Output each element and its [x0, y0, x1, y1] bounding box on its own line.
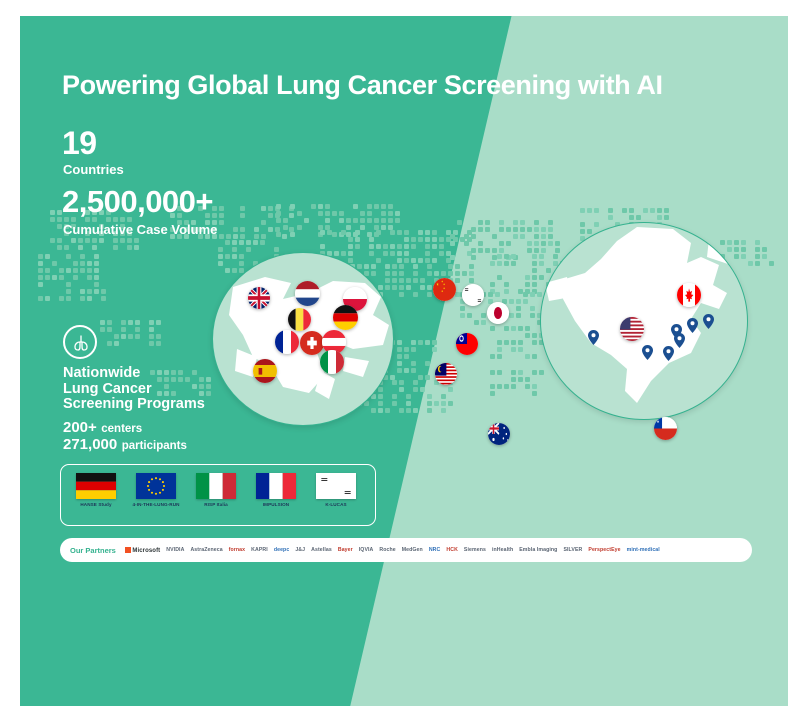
map-flag-it: [320, 350, 344, 374]
partner-logo-iqvia: IQVIA: [359, 547, 374, 553]
program-name: K-LUCAS: [309, 502, 363, 507]
flag-icon-kr: [316, 473, 356, 499]
map-flag-cl: [654, 417, 677, 440]
partner-logo-fornax: fornax: [229, 547, 245, 553]
nationwide-line-3: Screening Programs: [63, 397, 205, 413]
partners-bar: Our Partners MicrosoftNVIDIAAstraZenecaf…: [60, 538, 752, 562]
participants-stat: 271,000 participants: [63, 437, 187, 454]
map-flag-tw: [456, 333, 478, 355]
map-pin-site-4: [703, 314, 714, 329]
cumulative-cases-label: Cumulative Case Volume: [63, 222, 217, 237]
map-pin-site-1: [588, 330, 599, 345]
partner-logo-nrc: NRC: [429, 547, 441, 553]
program-item-it: RISP Italia: [189, 473, 243, 507]
program-item-fr: IMPULSION: [249, 473, 303, 507]
partner-logo-siemens: Siemens: [464, 547, 486, 553]
partner-logo-nvidia: NVIDIA: [166, 547, 184, 553]
participants-label: participants: [122, 440, 187, 452]
program-item-kr: K-LUCAS: [309, 473, 363, 507]
map-flag-jp: [487, 302, 509, 324]
lungs-icon: [63, 325, 97, 359]
countries-value: 19: [62, 125, 97, 162]
partner-logo-astrazeneca: AstraZeneca: [190, 547, 222, 553]
partner-logo-j-j: J&J: [295, 547, 305, 553]
page-title: Powering Global Lung Cancer Screening wi…: [62, 70, 762, 101]
program-name: RISP Italia: [189, 502, 243, 507]
nationwide-line-2: Lung Cancer: [63, 382, 205, 398]
partner-logo-kapri: KAPRI: [251, 547, 268, 553]
nationwide-line-1: Nationwide: [63, 366, 205, 382]
partner-logo-inhealth: inHealth: [492, 547, 513, 553]
map-flag-cn: [433, 278, 456, 301]
participants-value: 271,000: [63, 436, 117, 453]
map-flag-ca: [677, 283, 701, 307]
flag-icon-eu: [136, 473, 176, 499]
flag-icon-it: [196, 473, 236, 499]
program-name: IMPULSION: [249, 502, 303, 507]
cumulative-cases-value: 2,500,000+: [62, 184, 213, 220]
map-pin-site-5: [674, 333, 685, 348]
map-flag-nl: [295, 281, 320, 306]
partner-logo-roche: Roche: [379, 547, 395, 553]
map-flag-fr: [275, 330, 299, 354]
map-pin-site-7: [663, 346, 674, 361]
nationwide-heading: Nationwide Lung Cancer Screening Program…: [63, 366, 205, 413]
partner-logo-astellas: Astellas: [311, 547, 332, 553]
flag-icon-de: [76, 473, 116, 499]
map-flag-es: [253, 359, 277, 383]
nationwide-stats: 200+ centers 271,000 participants: [63, 420, 187, 454]
map-pin-site-6: [642, 345, 653, 360]
partners-label: Our Partners: [70, 546, 116, 555]
map-pin-site-3: [687, 318, 698, 333]
program-name: 4-IN-THE-LUNG-RUN: [129, 502, 183, 507]
flag-icon-fr: [256, 473, 296, 499]
program-item-eu: 4-IN-THE-LUNG-RUN: [129, 473, 183, 507]
map-flag-de: [333, 305, 358, 330]
nationwide-programs-card: HANSE Study4-IN-THE-LUNG-RUNRISP ItaliaI…: [60, 464, 376, 526]
americas-globe: [540, 222, 748, 420]
centers-stat: 200+ centers: [63, 420, 187, 437]
partner-logo-embla-imaging: Embla Imaging: [519, 547, 557, 553]
map-flag-my: [435, 363, 457, 385]
map-flag-kr: [462, 284, 484, 306]
partner-logo-microsoft: Microsoft: [125, 547, 160, 554]
partner-logo-perspecteye: PerspectEye: [588, 547, 620, 553]
partner-logo-bayer: Bayer: [338, 547, 353, 553]
partner-logo-silver: SILVER: [563, 547, 582, 553]
program-item-de: HANSE Study: [69, 473, 123, 507]
partner-logo-mint-medical: mint-medical: [627, 547, 660, 553]
map-flag-ch: [300, 331, 324, 355]
centers-label: centers: [101, 423, 142, 435]
partner-logo-deepc: deepc: [274, 547, 290, 553]
infographic-canvas: Powering Global Lung Cancer Screening wi…: [0, 0, 800, 721]
map-flag-gb: [248, 287, 270, 309]
map-flag-be: [288, 308, 311, 331]
centers-value: 200+: [63, 419, 97, 436]
countries-label: Countries: [63, 162, 124, 177]
partner-logo-hck: HCK: [446, 547, 458, 553]
partner-logo-medgen: MedGen: [402, 547, 423, 553]
map-flag-us: [620, 317, 644, 341]
map-flag-au: [488, 423, 510, 445]
program-name: HANSE Study: [69, 502, 123, 507]
